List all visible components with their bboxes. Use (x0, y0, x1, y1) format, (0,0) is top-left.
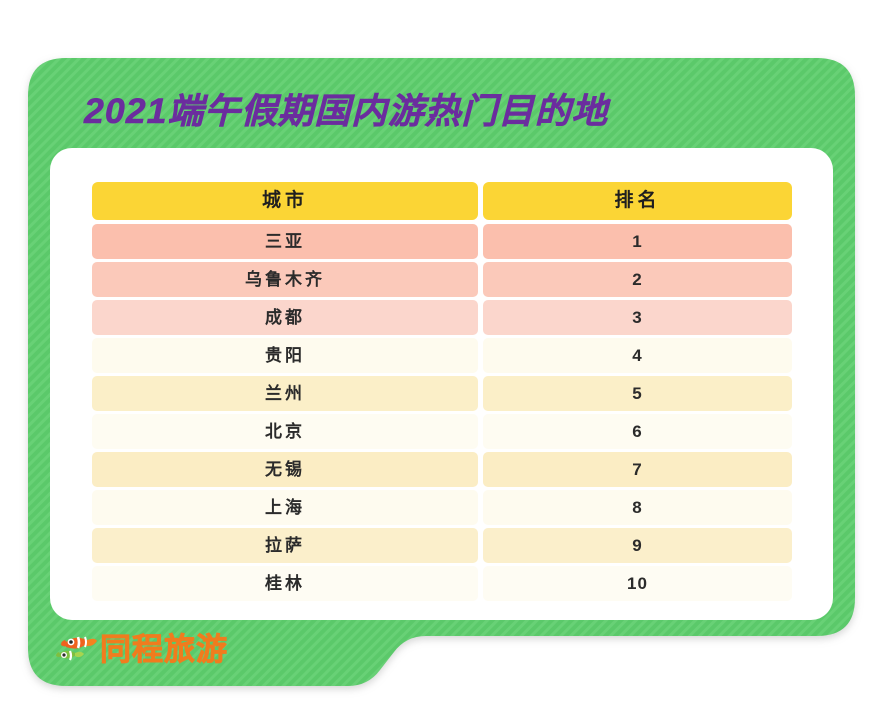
poster: 2021端午假期国内游热门目的地 城市 排名 三亚 1 乌鲁木齐 2 成都 3 … (28, 58, 855, 686)
brand-logo: 同程旅游 (56, 630, 228, 670)
cell-rank: 9 (483, 528, 792, 563)
clownfish-icon (56, 631, 98, 669)
table-row: 贵阳 4 (92, 338, 792, 373)
cell-rank: 6 (483, 414, 792, 449)
cell-city: 三亚 (92, 224, 478, 259)
table-row: 拉萨 9 (92, 528, 792, 563)
cell-rank: 8 (483, 490, 792, 525)
poster-title: 2021端午假期国内游热门目的地 (84, 90, 608, 134)
cell-city: 贵阳 (92, 338, 478, 373)
cell-city: 上海 (92, 490, 478, 525)
column-header-rank: 排名 (483, 182, 792, 220)
table-row: 三亚 1 (92, 224, 792, 259)
column-header-city: 城市 (92, 182, 478, 220)
cell-rank: 3 (483, 300, 792, 335)
cell-rank: 5 (483, 376, 792, 411)
table-row: 兰州 5 (92, 376, 792, 411)
cell-city: 无锡 (92, 452, 478, 487)
cell-rank: 2 (483, 262, 792, 297)
cell-city: 成都 (92, 300, 478, 335)
table-header-row: 城市 排名 (92, 182, 792, 220)
table-row: 北京 6 (92, 414, 792, 449)
cell-rank: 1 (483, 224, 792, 259)
cell-city: 北京 (92, 414, 478, 449)
ranking-table: 城市 排名 三亚 1 乌鲁木齐 2 成都 3 贵阳 4 兰州 5 (92, 182, 792, 604)
cell-rank: 4 (483, 338, 792, 373)
table-row: 乌鲁木齐 2 (92, 262, 792, 297)
cell-rank: 7 (483, 452, 792, 487)
cell-city: 兰州 (92, 376, 478, 411)
table-row: 无锡 7 (92, 452, 792, 487)
cell-city: 桂林 (92, 566, 478, 601)
cell-city: 拉萨 (92, 528, 478, 563)
cell-rank: 10 (483, 566, 792, 601)
table-row: 上海 8 (92, 490, 792, 525)
table-card: 城市 排名 三亚 1 乌鲁木齐 2 成都 3 贵阳 4 兰州 5 (50, 148, 833, 620)
table-row: 成都 3 (92, 300, 792, 335)
logo-text: 同程旅游 (100, 631, 228, 669)
table-row: 桂林 10 (92, 566, 792, 601)
cell-city: 乌鲁木齐 (92, 262, 478, 297)
